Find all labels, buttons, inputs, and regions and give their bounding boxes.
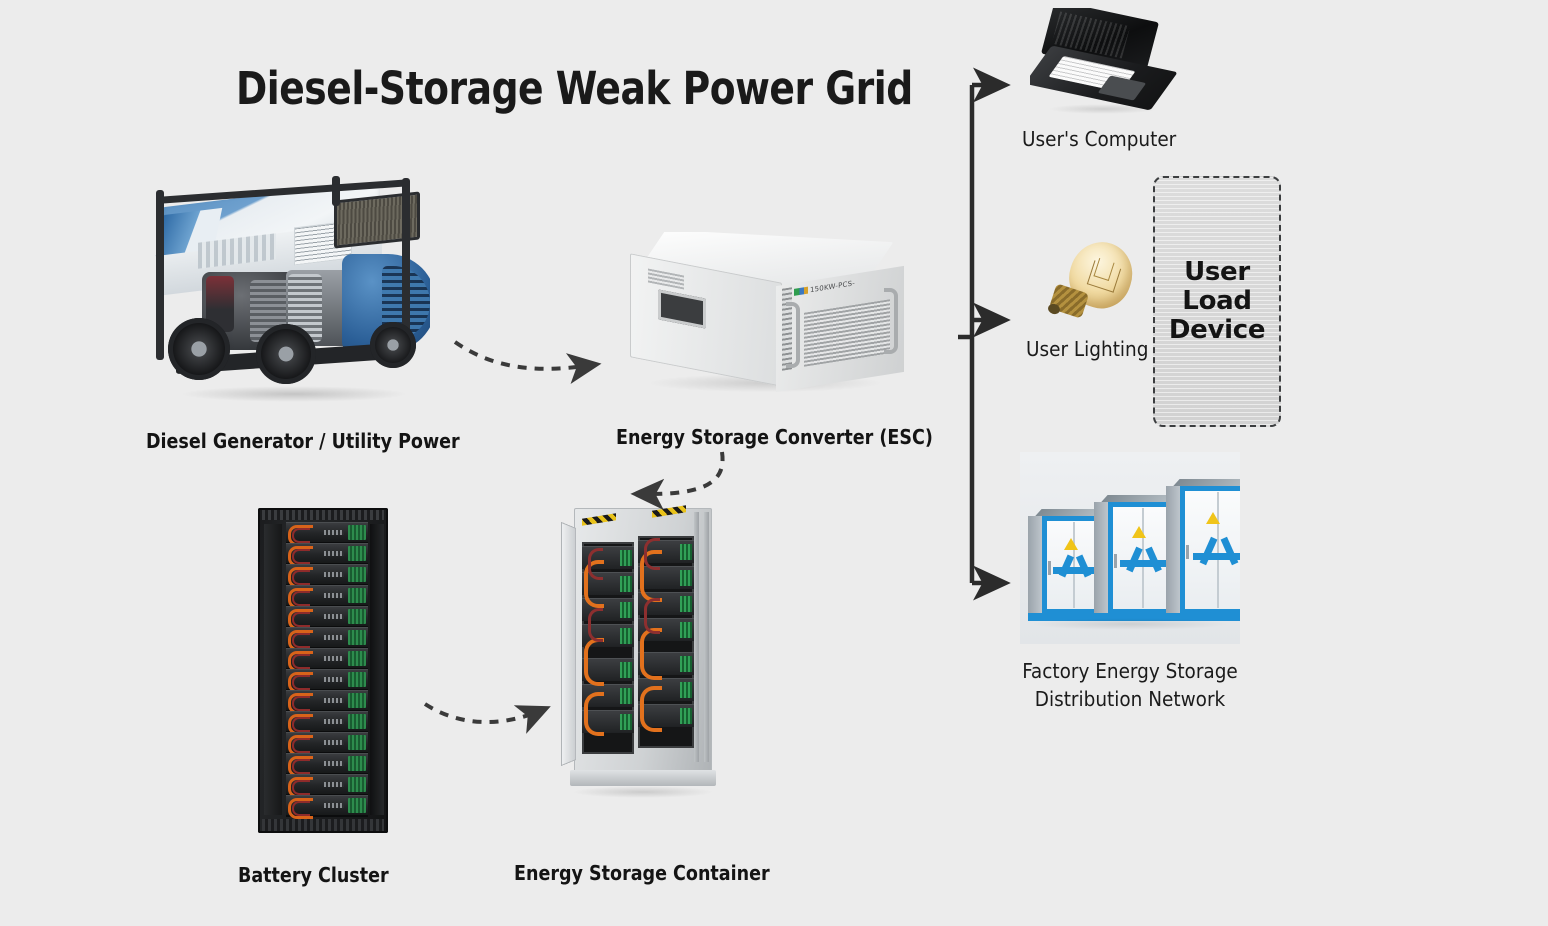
container-cable-loop bbox=[584, 638, 604, 686]
page-title: Diesel-Storage Weak Power Grid bbox=[236, 62, 913, 115]
battery-cluster-label: Battery Cluster bbox=[238, 862, 389, 888]
container-cable-loop bbox=[640, 686, 662, 732]
container-rib bbox=[704, 512, 709, 762]
battery-cluster-image bbox=[258, 508, 388, 833]
flow-battery-to-container bbox=[425, 704, 542, 722]
battery-module bbox=[286, 564, 368, 584]
converter-brand-logo-icon bbox=[794, 287, 808, 296]
distribution-network-image bbox=[1020, 452, 1240, 644]
hazard-warning-icon bbox=[1132, 526, 1146, 538]
generator-wheel-right bbox=[256, 324, 316, 384]
cabinet-door-split bbox=[1217, 492, 1219, 608]
container-battery-bay bbox=[638, 536, 694, 748]
distribution-cabinet bbox=[1166, 486, 1240, 614]
diagram-canvas: Diesel-Storage Weak Power Grid Diesel Ge… bbox=[0, 0, 1548, 926]
battery-module bbox=[286, 711, 368, 731]
rack-left-door bbox=[264, 524, 282, 815]
battery-module bbox=[286, 774, 368, 794]
load-label-line-2: Load bbox=[1169, 287, 1265, 316]
user-lighting-image bbox=[1030, 240, 1150, 328]
user-lighting-label: User Lighting bbox=[1026, 336, 1148, 364]
cabinet-handle bbox=[1186, 545, 1189, 559]
container-open-door bbox=[561, 522, 576, 766]
battery-module bbox=[286, 522, 368, 542]
converter-handle-left bbox=[786, 302, 800, 368]
cabinets-shadow bbox=[1030, 618, 1230, 630]
user-load-device-box: User Load Device bbox=[1153, 176, 1281, 427]
cabinet-accent-diag bbox=[1126, 546, 1142, 571]
generator-wheel-rear bbox=[370, 322, 416, 368]
battery-module bbox=[286, 669, 368, 689]
container-cable-loop bbox=[640, 628, 662, 680]
hazard-warning-icon bbox=[1206, 512, 1220, 524]
cabinet-accent-diag bbox=[1145, 546, 1161, 571]
flow-converter-to-container bbox=[640, 452, 723, 494]
user-load-device-label: User Load Device bbox=[1169, 258, 1265, 345]
distribution-label-line-2: Distribution Network bbox=[1018, 686, 1242, 714]
load-label-line-3: Device bbox=[1169, 316, 1265, 345]
distribution-cabinet bbox=[1094, 502, 1176, 614]
battery-module bbox=[286, 648, 368, 668]
converter-label: Energy Storage Converter (ESC) bbox=[616, 424, 933, 450]
battery-module bbox=[286, 606, 368, 626]
distribution-cabinet bbox=[1028, 516, 1104, 614]
energy-storage-converter-image: 150KW-PCS- bbox=[626, 232, 918, 404]
generator-shadow bbox=[180, 386, 408, 402]
battery-module bbox=[286, 753, 368, 773]
hazard-warning-icon bbox=[1064, 538, 1078, 550]
cabinet-accent-diag bbox=[1221, 537, 1239, 566]
container-battery-bay bbox=[582, 542, 634, 754]
container-cable-loop-red bbox=[588, 608, 603, 642]
battery-module bbox=[286, 627, 368, 647]
battery-module bbox=[286, 585, 368, 605]
cabinet-door-split bbox=[1142, 508, 1144, 608]
container-cable-loop-red bbox=[588, 548, 603, 580]
rack-module-stack bbox=[286, 522, 368, 817]
battery-module bbox=[286, 795, 368, 815]
container-rib bbox=[694, 512, 699, 762]
distribution-label: Factory Energy Storage Distribution Netw… bbox=[1018, 658, 1242, 713]
rack-right-frame bbox=[370, 524, 384, 815]
rack-bottom-vent bbox=[262, 819, 384, 831]
generator-label: Diesel Generator / Utility Power bbox=[146, 428, 460, 454]
cabinet-handle bbox=[1048, 561, 1051, 575]
container-base-frame bbox=[570, 770, 716, 786]
container-cable-loop bbox=[584, 692, 604, 736]
flow-generator-to-converter bbox=[455, 342, 592, 369]
diesel-generator-image bbox=[146, 172, 430, 407]
generator-wheel-left bbox=[168, 318, 230, 380]
cabinet-face bbox=[1180, 486, 1240, 614]
battery-module bbox=[286, 543, 368, 563]
rack-top-vent bbox=[262, 510, 384, 520]
cabinet-handle bbox=[1114, 554, 1117, 568]
load-label-line-1: User bbox=[1169, 258, 1265, 287]
container-cable-loop-red bbox=[644, 538, 660, 570]
battery-module bbox=[286, 732, 368, 752]
battery-module bbox=[286, 690, 368, 710]
container-label: Energy Storage Container bbox=[514, 860, 770, 886]
container-cable-loop-red bbox=[644, 598, 660, 634]
container-shadow bbox=[572, 786, 714, 798]
connector-layer bbox=[0, 0, 1548, 926]
distribution-label-line-1: Factory Energy Storage bbox=[1018, 658, 1242, 686]
generator-frame-left bbox=[156, 190, 164, 360]
user-computer-image bbox=[1030, 8, 1180, 116]
user-computer-label: User's Computer bbox=[1022, 126, 1176, 154]
cabinet-door-split bbox=[1073, 522, 1075, 608]
energy-storage-container-image bbox=[552, 502, 722, 800]
cabinet-accent-diag bbox=[1200, 537, 1218, 566]
converter-handle-right bbox=[884, 288, 898, 354]
